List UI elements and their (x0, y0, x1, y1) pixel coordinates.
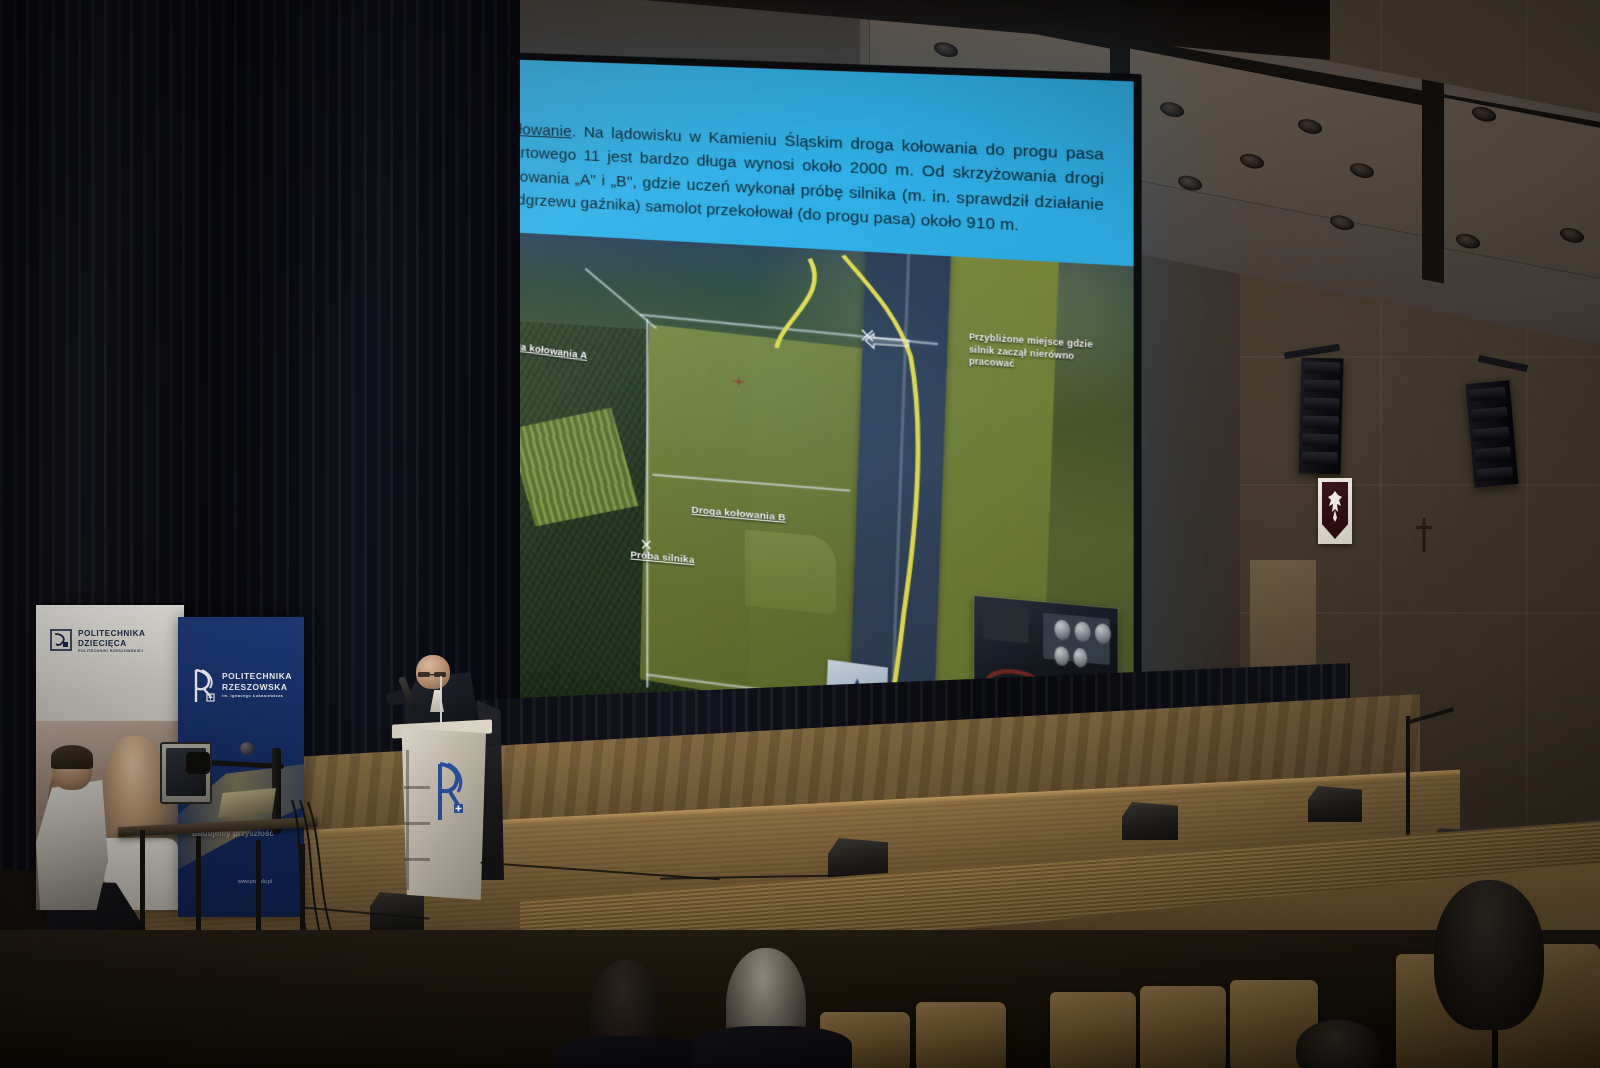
stage-monitor-wedge (370, 892, 424, 930)
line-array-speaker (1466, 380, 1519, 487)
auditorium-scene: Kołowanie. Na lądowisku w Kamieniu Śląsk… (0, 0, 1600, 1068)
position-marker-icon (640, 538, 652, 551)
auditorium-seat (1140, 986, 1226, 1068)
prz-logo-icon (434, 762, 466, 824)
camera-head-icon (240, 742, 254, 755)
slide-body-sentence: . Na lądowisku w Kamieniu Śląskim droga … (500, 123, 1104, 234)
banner-rzeszowska-subtitle: im. Ignacego Łukasiewicza (222, 693, 283, 698)
wall-crucifix-icon (1414, 518, 1434, 552)
banner-dziecieca-line2: DZIECIĘCA (78, 639, 127, 648)
stage-monitor-wedge (1122, 802, 1178, 840)
audience-head (1434, 880, 1544, 1030)
stage-monitor-wedge (1308, 786, 1362, 822)
audience-shoulders (556, 1036, 706, 1068)
eagle-icon (1325, 488, 1345, 526)
prz-logo-icon (192, 669, 216, 703)
banner-website: www.prz.edu.pl (238, 879, 272, 885)
polish-eagle-emblem (1318, 478, 1352, 544)
banner-dziecieca-subtitle: POLITECHNIKI RZESZOWSKIEJ (78, 649, 143, 653)
line-array-speaker (1298, 357, 1343, 474)
taxiway-line (646, 319, 648, 688)
position-marker-icon (860, 327, 875, 343)
banner-rzeszowska-line2: RZESZOWSKA (222, 682, 288, 692)
eyeglasses-icon (418, 672, 447, 677)
operator-hair (51, 745, 93, 769)
slide-body-text: Kołowanie. Na lądowisku w Kamieniu Śląsk… (470, 58, 1134, 259)
audience-shoulders (692, 1026, 852, 1068)
audience-head (1296, 1020, 1380, 1068)
aircraft-symbol-icon (731, 375, 748, 389)
cables (286, 796, 346, 936)
auditorium-seat (916, 1002, 1006, 1068)
banner-rzeszowska-line1: POLITECHNIKA (222, 671, 292, 681)
banner-dziecieca-line1: POLITECHNIKA (78, 629, 145, 638)
microphone-stand (1406, 716, 1410, 836)
auditorium-seat (1050, 992, 1136, 1068)
pd-logo-icon (50, 629, 72, 651)
video-camera (186, 752, 210, 774)
